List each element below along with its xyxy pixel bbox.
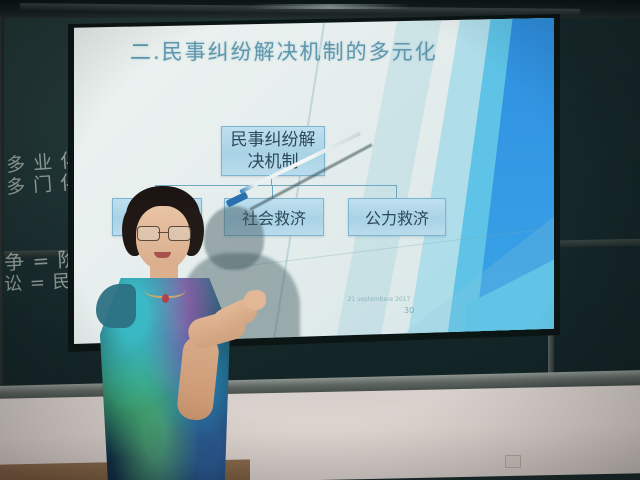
slide-footer-date: 21 septembere 2017 <box>346 296 412 303</box>
diagram-child-node-3: 公力救济 <box>348 198 446 236</box>
presenter-hand-right <box>244 290 266 310</box>
diagram-root-node: 民事纠纷解 决机制 <box>221 126 325 176</box>
presenter-shoulder-left <box>96 284 136 328</box>
classroom-photo: 多 业 化 多 门 化 争 = 阶 解 讼 = 民 事 二.民事纠纷解决机制的多… <box>0 0 640 480</box>
eyeglasses-lens-right <box>168 226 191 241</box>
slide-page-number: 30 <box>404 306 414 315</box>
blackboard-frame-left <box>0 18 4 393</box>
eyeglasses-lens-left <box>137 226 160 241</box>
slide-title: 二.民事纠纷解决机制的多元化 <box>130 36 438 66</box>
diagram-connector-branch-3 <box>396 185 397 198</box>
wall-socket <box>505 455 521 468</box>
necklace-pendant <box>162 294 169 303</box>
eyeglasses-bridge <box>158 232 168 233</box>
eyeglasses-icon <box>136 226 190 239</box>
diagram-root-line-1: 民事纠纷解 <box>231 129 316 151</box>
ceiling-light-reflection <box>250 4 410 9</box>
presenter <box>92 186 242 480</box>
